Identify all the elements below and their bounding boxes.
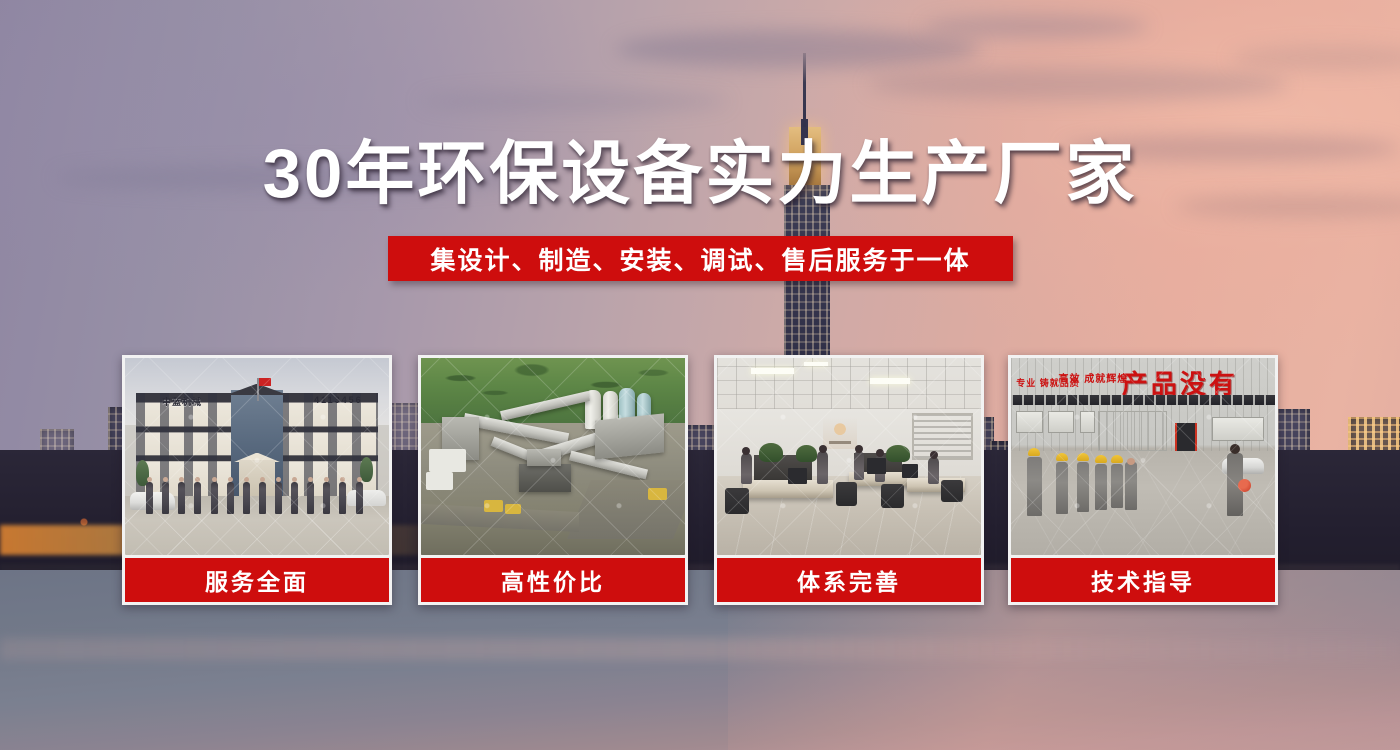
instructor bbox=[1227, 453, 1243, 516]
card-caption-bar: 技术指导 bbox=[1011, 558, 1275, 602]
subtitle-bar: 集设计、制造、安装、调试、售后服务于一体 bbox=[388, 236, 1013, 281]
worker bbox=[1125, 462, 1137, 509]
feature-card-value[interactable]: 高性价比 bbox=[418, 355, 688, 605]
worker bbox=[1027, 457, 1042, 516]
subtitle-text: 集设计、制造、安装、调试、售后服务于一体 bbox=[430, 241, 970, 277]
wall-decoration bbox=[823, 417, 857, 449]
feature-card-guidance[interactable]: 产品没有 专业 铸就品质 高效 成就辉煌 bbox=[1008, 355, 1278, 605]
card-photo-office-interior bbox=[717, 358, 981, 555]
tower-spire bbox=[803, 53, 806, 127]
feature-card-system[interactable]: 体系完善 bbox=[714, 355, 984, 605]
river-light-band bbox=[0, 638, 1400, 661]
cloud bbox=[1232, 45, 1400, 71]
card-caption-text: 体系完善 bbox=[797, 563, 901, 597]
factory-wall-sign-left2: 高效 成就辉煌 bbox=[1059, 374, 1129, 386]
card-photo-industrial-plant bbox=[421, 358, 685, 555]
card-caption-text: 高性价比 bbox=[501, 563, 605, 597]
card-caption-text: 技术指导 bbox=[1091, 563, 1195, 597]
staff-lineup bbox=[146, 482, 363, 514]
promo-banner: 30年环保设备实力生产厂家 集设计、制造、安装、调试、售后服务于一体 中蓝机械 … bbox=[0, 0, 1400, 750]
worker bbox=[1077, 462, 1089, 511]
photo-phone-number: 4113456 bbox=[314, 395, 363, 405]
card-caption-bar: 高性价比 bbox=[421, 558, 685, 602]
card-caption-bar: 体系完善 bbox=[717, 558, 981, 602]
cloud bbox=[616, 30, 980, 68]
banner-headline: 30年环保设备实力生产厂家 bbox=[0, 136, 1400, 212]
cloud bbox=[924, 15, 1148, 38]
photo-company-logo-text: 中蓝机械 bbox=[162, 395, 202, 408]
cloud bbox=[420, 90, 728, 113]
worker bbox=[1111, 464, 1123, 507]
card-caption-bar: 服务全面 bbox=[125, 558, 389, 602]
feature-card-row: 中蓝机械 4113456 服务全面 bbox=[122, 355, 1278, 605]
cloud bbox=[868, 68, 1288, 101]
card-photo-workers-training: 产品没有 专业 铸就品质 高效 成就辉煌 bbox=[1011, 358, 1275, 555]
card-caption-text: 服务全面 bbox=[205, 563, 309, 597]
feature-card-service[interactable]: 中蓝机械 4113456 服务全面 bbox=[122, 355, 392, 605]
worker bbox=[1095, 464, 1107, 509]
worker bbox=[1056, 462, 1068, 513]
card-photo-company-building: 中蓝机械 4113456 bbox=[125, 358, 389, 555]
